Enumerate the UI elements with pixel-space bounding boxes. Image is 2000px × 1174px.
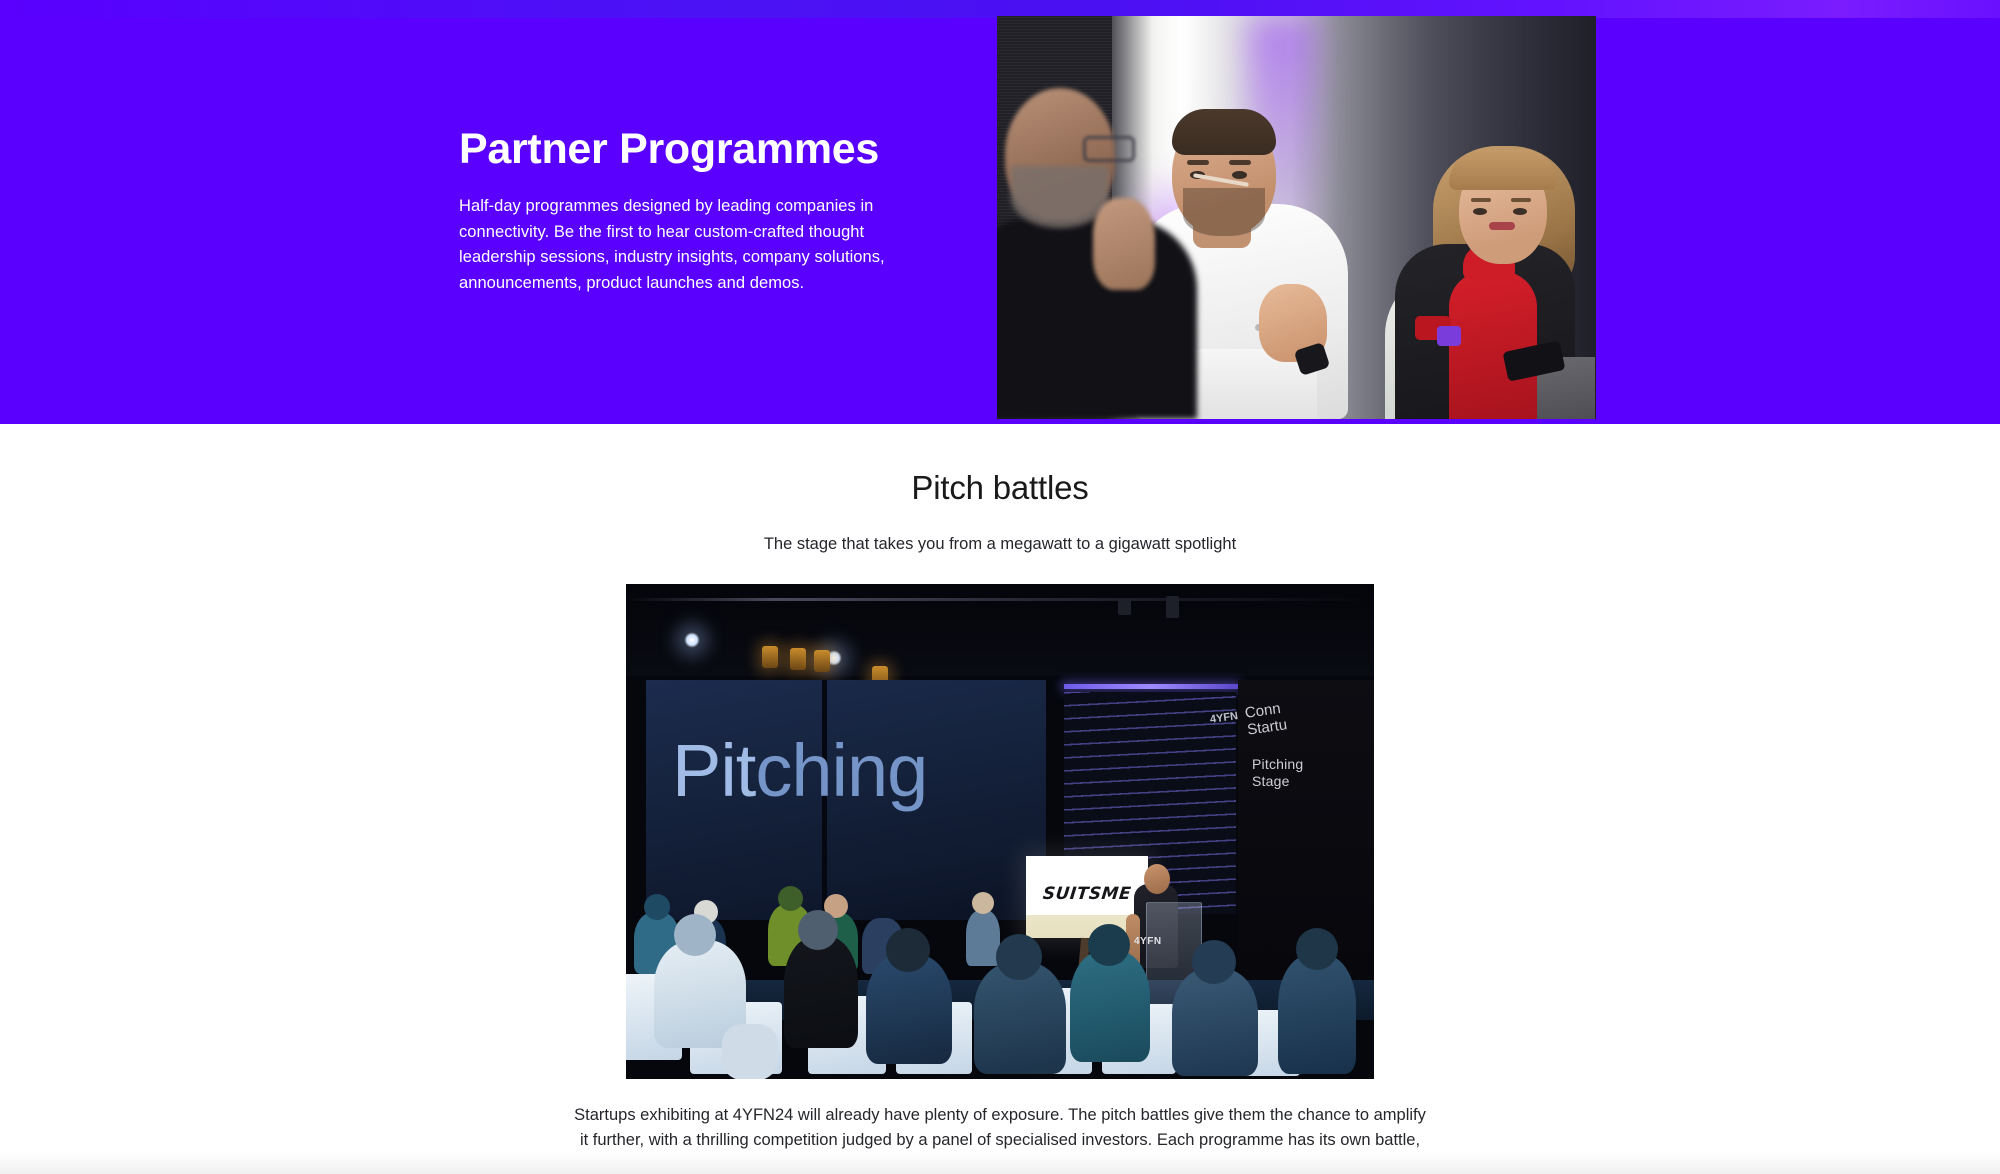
footer-fade [0,1152,2000,1174]
photo-person-brow [1471,198,1491,202]
audience-person-head [644,894,670,920]
photo-person-mouth [1489,222,1515,230]
audience-person-head [886,928,930,972]
photo-person-red-top [1449,271,1537,419]
audience-person-head [1088,924,1130,966]
audience-person-head [798,910,838,950]
hero-panel-photo [997,16,1596,419]
stage-lamp [762,646,778,668]
page-root: Partner Programmes Half-day programmes d… [0,0,2000,1174]
backdrop-word: Pitching [672,734,927,808]
photo-person-beard [1183,188,1265,236]
pitch-battles-section: Pitch battles The stage that takes you f… [0,468,2000,1174]
photo-person-hand [1093,198,1155,290]
photo-person-eye [1473,208,1487,215]
audience-person-leg [722,1024,778,1079]
pitch-stage-photo: Pitching Pitching Stage 4YFN Conn Startu… [626,584,1374,1079]
photo-person-brow [1229,160,1251,165]
hero-description: Half-day programmes designed by leading … [459,194,929,296]
stage-led-strip [1064,684,1238,689]
audience-person-head [972,892,994,914]
stage-rigging-box [1166,596,1179,618]
section-title: Pitch battles [0,468,2000,508]
pitching-stage-sign: Pitching Stage [1252,756,1303,790]
photo-eyeglasses [1083,136,1135,162]
page-title: Partner Programmes [459,124,929,174]
pitching-stage-sign-line2: Stage [1252,773,1303,790]
audience-person-head [1192,940,1236,984]
backdrop-word-dim: ching [755,729,927,812]
audience-person [1278,954,1356,1074]
stage-rigging-box [1118,598,1131,615]
stage-lamp [814,650,830,672]
photo-person-eye [1232,171,1247,179]
photo-person-brow [1511,198,1531,202]
stage-spotlight [684,632,700,648]
audience-person-head [996,934,1042,980]
stage-lighting-truss [626,598,1374,601]
audience-person-head [778,886,803,911]
photo-person-brow [1187,160,1209,165]
audience-person-head [1296,928,1338,970]
backdrop-word-light: Pit [672,729,755,812]
audience-person [966,910,1000,966]
hero-text-block: Partner Programmes Half-day programmes d… [459,124,929,296]
photo-person-hair [1172,109,1276,155]
stage-lamp [790,648,806,670]
audience-person-head [674,914,716,956]
audience-area [626,884,1374,1079]
hero-section: Partner Programmes Half-day programmes d… [0,0,2000,424]
audience-person [784,936,858,1048]
photo-person-eye [1513,208,1527,215]
pitching-stage-sign-line1: Pitching [1252,756,1303,773]
brand-tagline: Conn Startu [1244,699,1288,738]
section-subtitle: The stage that takes you from a megawatt… [0,532,2000,556]
photo-wristband [1437,326,1461,346]
audience-person [1070,950,1150,1062]
audience-person [1172,968,1258,1076]
photo-person-hair [1449,150,1557,190]
